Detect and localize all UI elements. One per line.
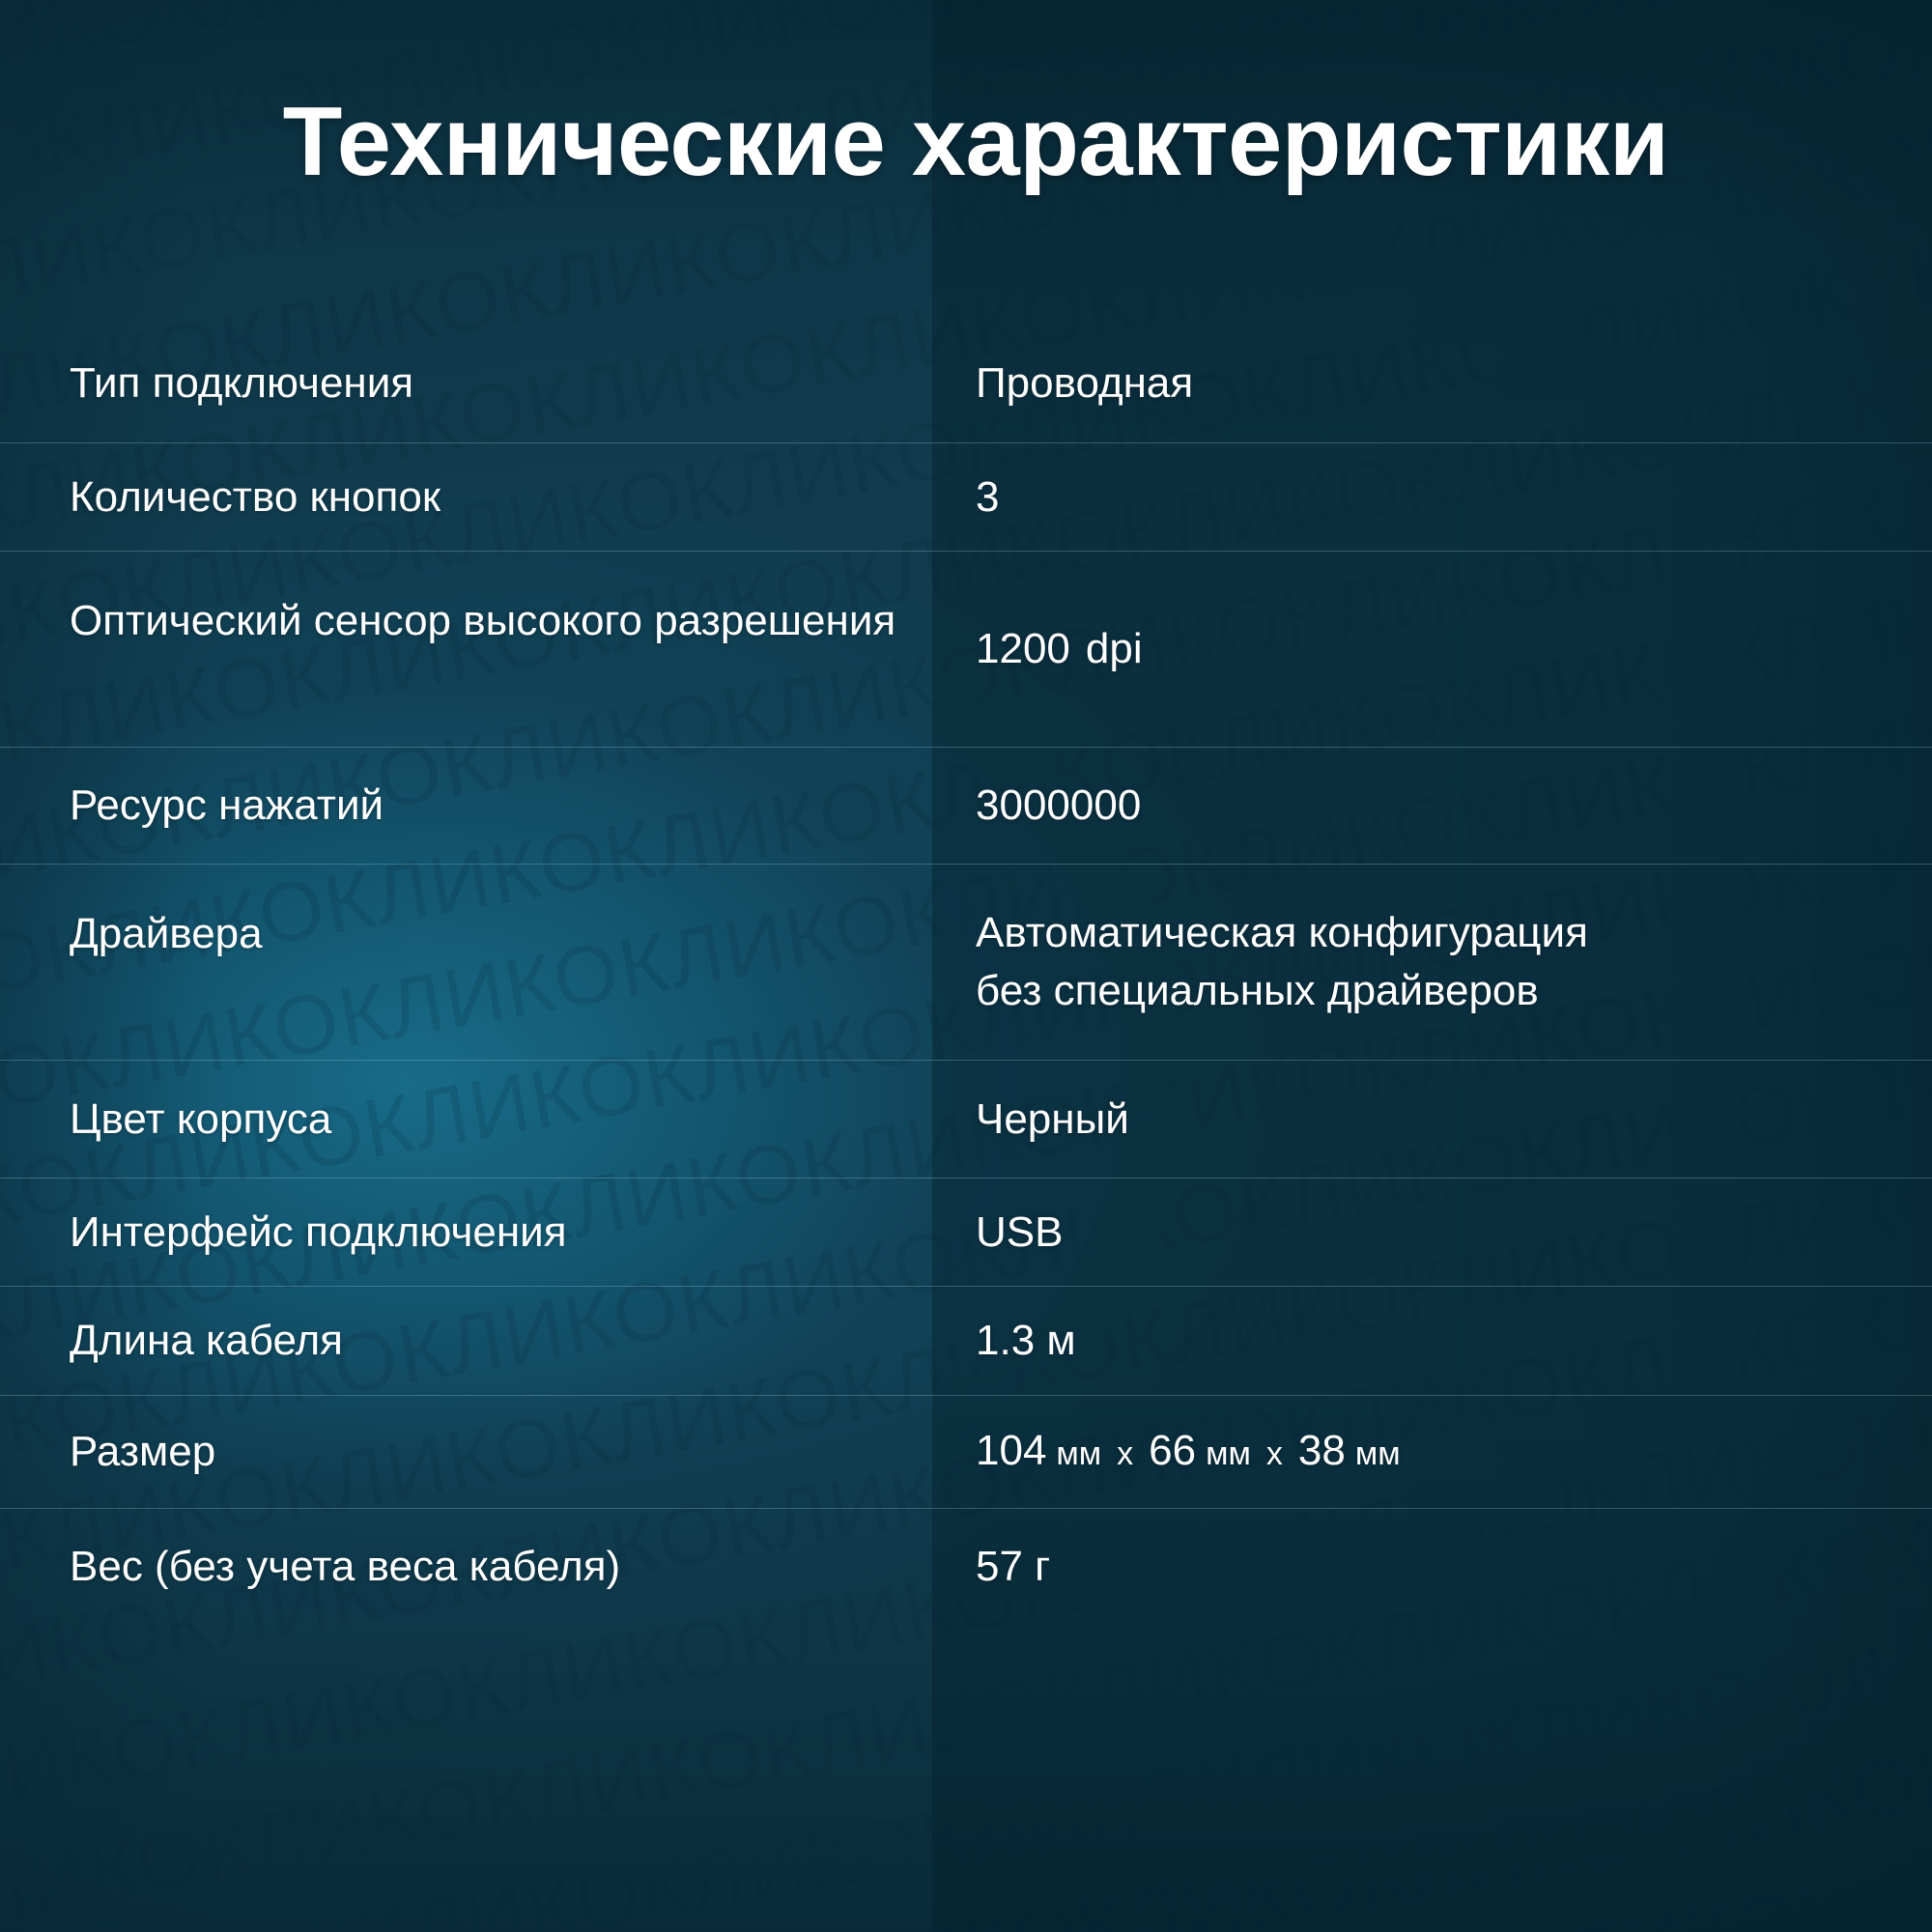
spec-label: Оптический сенсор высокого разрешения [0,552,932,650]
spec-value: Черный [932,1091,1932,1149]
spec-value: 3000000 [932,777,1932,835]
spec-value-line1: Автоматическая конфигурация [976,904,1903,962]
dimension-separator: x [1266,1435,1283,1472]
dimension-1: 104 [976,1427,1046,1474]
specifications-table: Тип подключения Проводная Количество кно… [0,324,1932,1624]
spec-label: Интерфейс подключения [0,1204,932,1262]
table-row: Драйвера Автоматическая конфигурация без… [0,864,1932,1060]
spec-value: USB [932,1204,1932,1262]
table-row: Тип подключения Проводная [0,324,1932,442]
spec-value: 1.3 м [932,1312,1932,1370]
spec-value: Проводная [932,355,1932,412]
dimension-unit: мм [1206,1435,1251,1472]
page-title: Технические характеристики [0,89,1932,195]
spec-value-unit: dpi [1086,625,1143,672]
spec-value: Автоматическая конфигурация без специаль… [932,904,1932,1020]
table-row: Вес (без учета веса кабеля) 57 г [0,1508,1932,1624]
spec-label: Вес (без учета веса кабеля) [0,1538,932,1596]
dimension-separator: x [1117,1435,1133,1472]
table-row: Ресурс нажатий 3000000 [0,747,1932,864]
spec-label: Цвет корпуса [0,1091,932,1149]
spec-value-number: 1200 [976,625,1070,672]
table-row: Количество кнопок 3 [0,442,1932,551]
spec-label: Драйвера [0,865,932,963]
dimension-3: 38 [1298,1427,1346,1474]
spec-value: 57 г [932,1538,1932,1596]
spec-value: 104ммx66ммx38мм [932,1422,1932,1483]
dimension-unit: мм [1355,1435,1401,1472]
spec-label: Тип подключения [0,355,932,412]
spec-label: Размер [0,1423,932,1481]
table-row: Длина кабеля 1.3 м [0,1286,1932,1395]
table-row: Размер 104ммx66ммx38мм [0,1395,1932,1508]
spec-sheet-page: КЛИКОКЛИКОКЛИКОКЛИКОКЛИКОКЛИКОКЛИКОКЛИКО… [0,0,1932,1932]
dimension-unit: мм [1056,1435,1101,1472]
dimension-2: 66 [1149,1427,1196,1474]
spec-label: Длина кабеля [0,1312,932,1370]
table-row: Интерфейс подключения USB [0,1178,1932,1286]
spec-value: 3 [932,469,1932,526]
spec-label: Ресурс нажатий [0,777,932,835]
table-row: Оптический сенсор высокого разрешения 12… [0,551,1932,747]
spec-value: 1200dpi [932,620,1932,678]
table-row: Цвет корпуса Черный [0,1060,1932,1178]
spec-label: Количество кнопок [0,469,932,526]
spec-value-line2: без специальных драйверов [976,962,1903,1020]
